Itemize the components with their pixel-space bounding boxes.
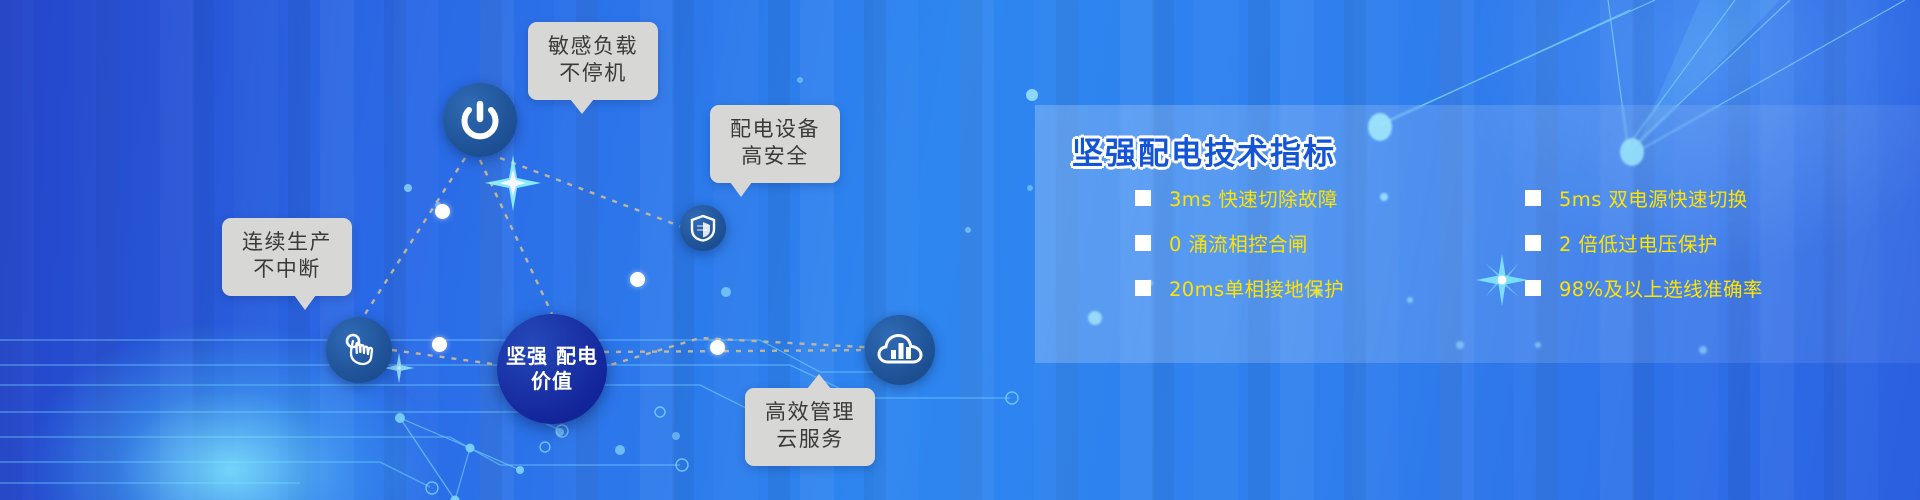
- spec-item[interactable]: 2 倍低过电压保护: [1525, 220, 1855, 265]
- spec-item-text: 20ms单相接地保护: [1169, 273, 1344, 302]
- connector-dot-3: [432, 337, 447, 352]
- spec-item[interactable]: 0 涌流相控合闸: [1135, 220, 1465, 265]
- connector-dot-1: [435, 204, 450, 219]
- hand-touch-icon: [339, 330, 379, 370]
- spec-item-text: 5ms 双电源快速切换: [1559, 183, 1748, 212]
- callout-cloud-service-text: 高效管理 云服务: [765, 399, 855, 453]
- spec-item[interactable]: 20ms单相接地保护: [1135, 265, 1465, 310]
- diagram-connectors: [0, 0, 1035, 500]
- callout-cloud-service[interactable]: 高效管理 云服务: [745, 388, 875, 466]
- callout-tail: [294, 295, 316, 310]
- shield-icon: [690, 214, 716, 242]
- callout-distribution-safety[interactable]: 配电设备 高安全: [710, 105, 840, 183]
- spec-item[interactable]: 3ms 快速切除故障: [1135, 175, 1465, 220]
- value-diagram: 坚强 配电 价值 敏感负载 不停机 配电设备 高安全 连续生产 不中断 高效管理…: [0, 0, 1035, 500]
- callout-tail: [807, 374, 831, 389]
- bullet-square-icon: [1135, 190, 1151, 206]
- bullet-square-icon: [1525, 280, 1541, 296]
- spec-item[interactable]: 5ms 双电源快速切换: [1525, 175, 1855, 220]
- power-icon: [458, 98, 502, 142]
- callout-tail: [570, 99, 594, 114]
- spec-item[interactable]: 98%及以上选线准确率: [1525, 265, 1855, 310]
- bullet-square-icon: [1525, 190, 1541, 206]
- callout-continuous-production[interactable]: 连续生产 不中断: [222, 218, 352, 296]
- spec-list: 3ms 快速切除故障 5ms 双电源快速切换 0 涌流相控合闸 2 倍低过电压保…: [1135, 175, 1895, 310]
- spec-item-text: 98%及以上选线准确率: [1559, 273, 1763, 302]
- bullet-square-icon: [1525, 235, 1541, 251]
- spec-item-text: 3ms 快速切除故障: [1169, 183, 1338, 212]
- spec-item-text: 2 倍低过电压保护: [1559, 228, 1718, 257]
- node-cloud[interactable]: [865, 315, 935, 385]
- connector-dot-2: [630, 272, 645, 287]
- node-hand[interactable]: [326, 317, 392, 383]
- node-power[interactable]: [443, 83, 517, 157]
- callout-distribution-safety-text: 配电设备 高安全: [730, 116, 820, 170]
- callout-continuous-production-text: 连续生产 不中断: [242, 229, 332, 283]
- cloud-chart-icon: [877, 331, 923, 369]
- spec-item-text: 0 涌流相控合闸: [1169, 228, 1308, 257]
- node-shield[interactable]: [680, 205, 726, 251]
- sparkle-star-top: [485, 155, 541, 211]
- connector-dot-4: [710, 340, 725, 355]
- callout-sensitive-load-text: 敏感负载 不停机: [548, 33, 638, 87]
- callout-tail: [730, 182, 752, 197]
- node-center-value[interactable]: 坚强 配电 价值: [497, 314, 607, 424]
- banner-stage: 坚强 配电 价值 敏感负载 不停机 配电设备 高安全 连续生产 不中断 高效管理…: [0, 0, 1920, 500]
- callout-sensitive-load[interactable]: 敏感负载 不停机: [528, 22, 658, 100]
- center-node-label: 坚强 配电 价值: [497, 344, 607, 394]
- spec-panel-title: 坚强配电技术指标: [1072, 128, 1336, 173]
- bullet-square-icon: [1135, 280, 1151, 296]
- bullet-square-icon: [1135, 235, 1151, 251]
